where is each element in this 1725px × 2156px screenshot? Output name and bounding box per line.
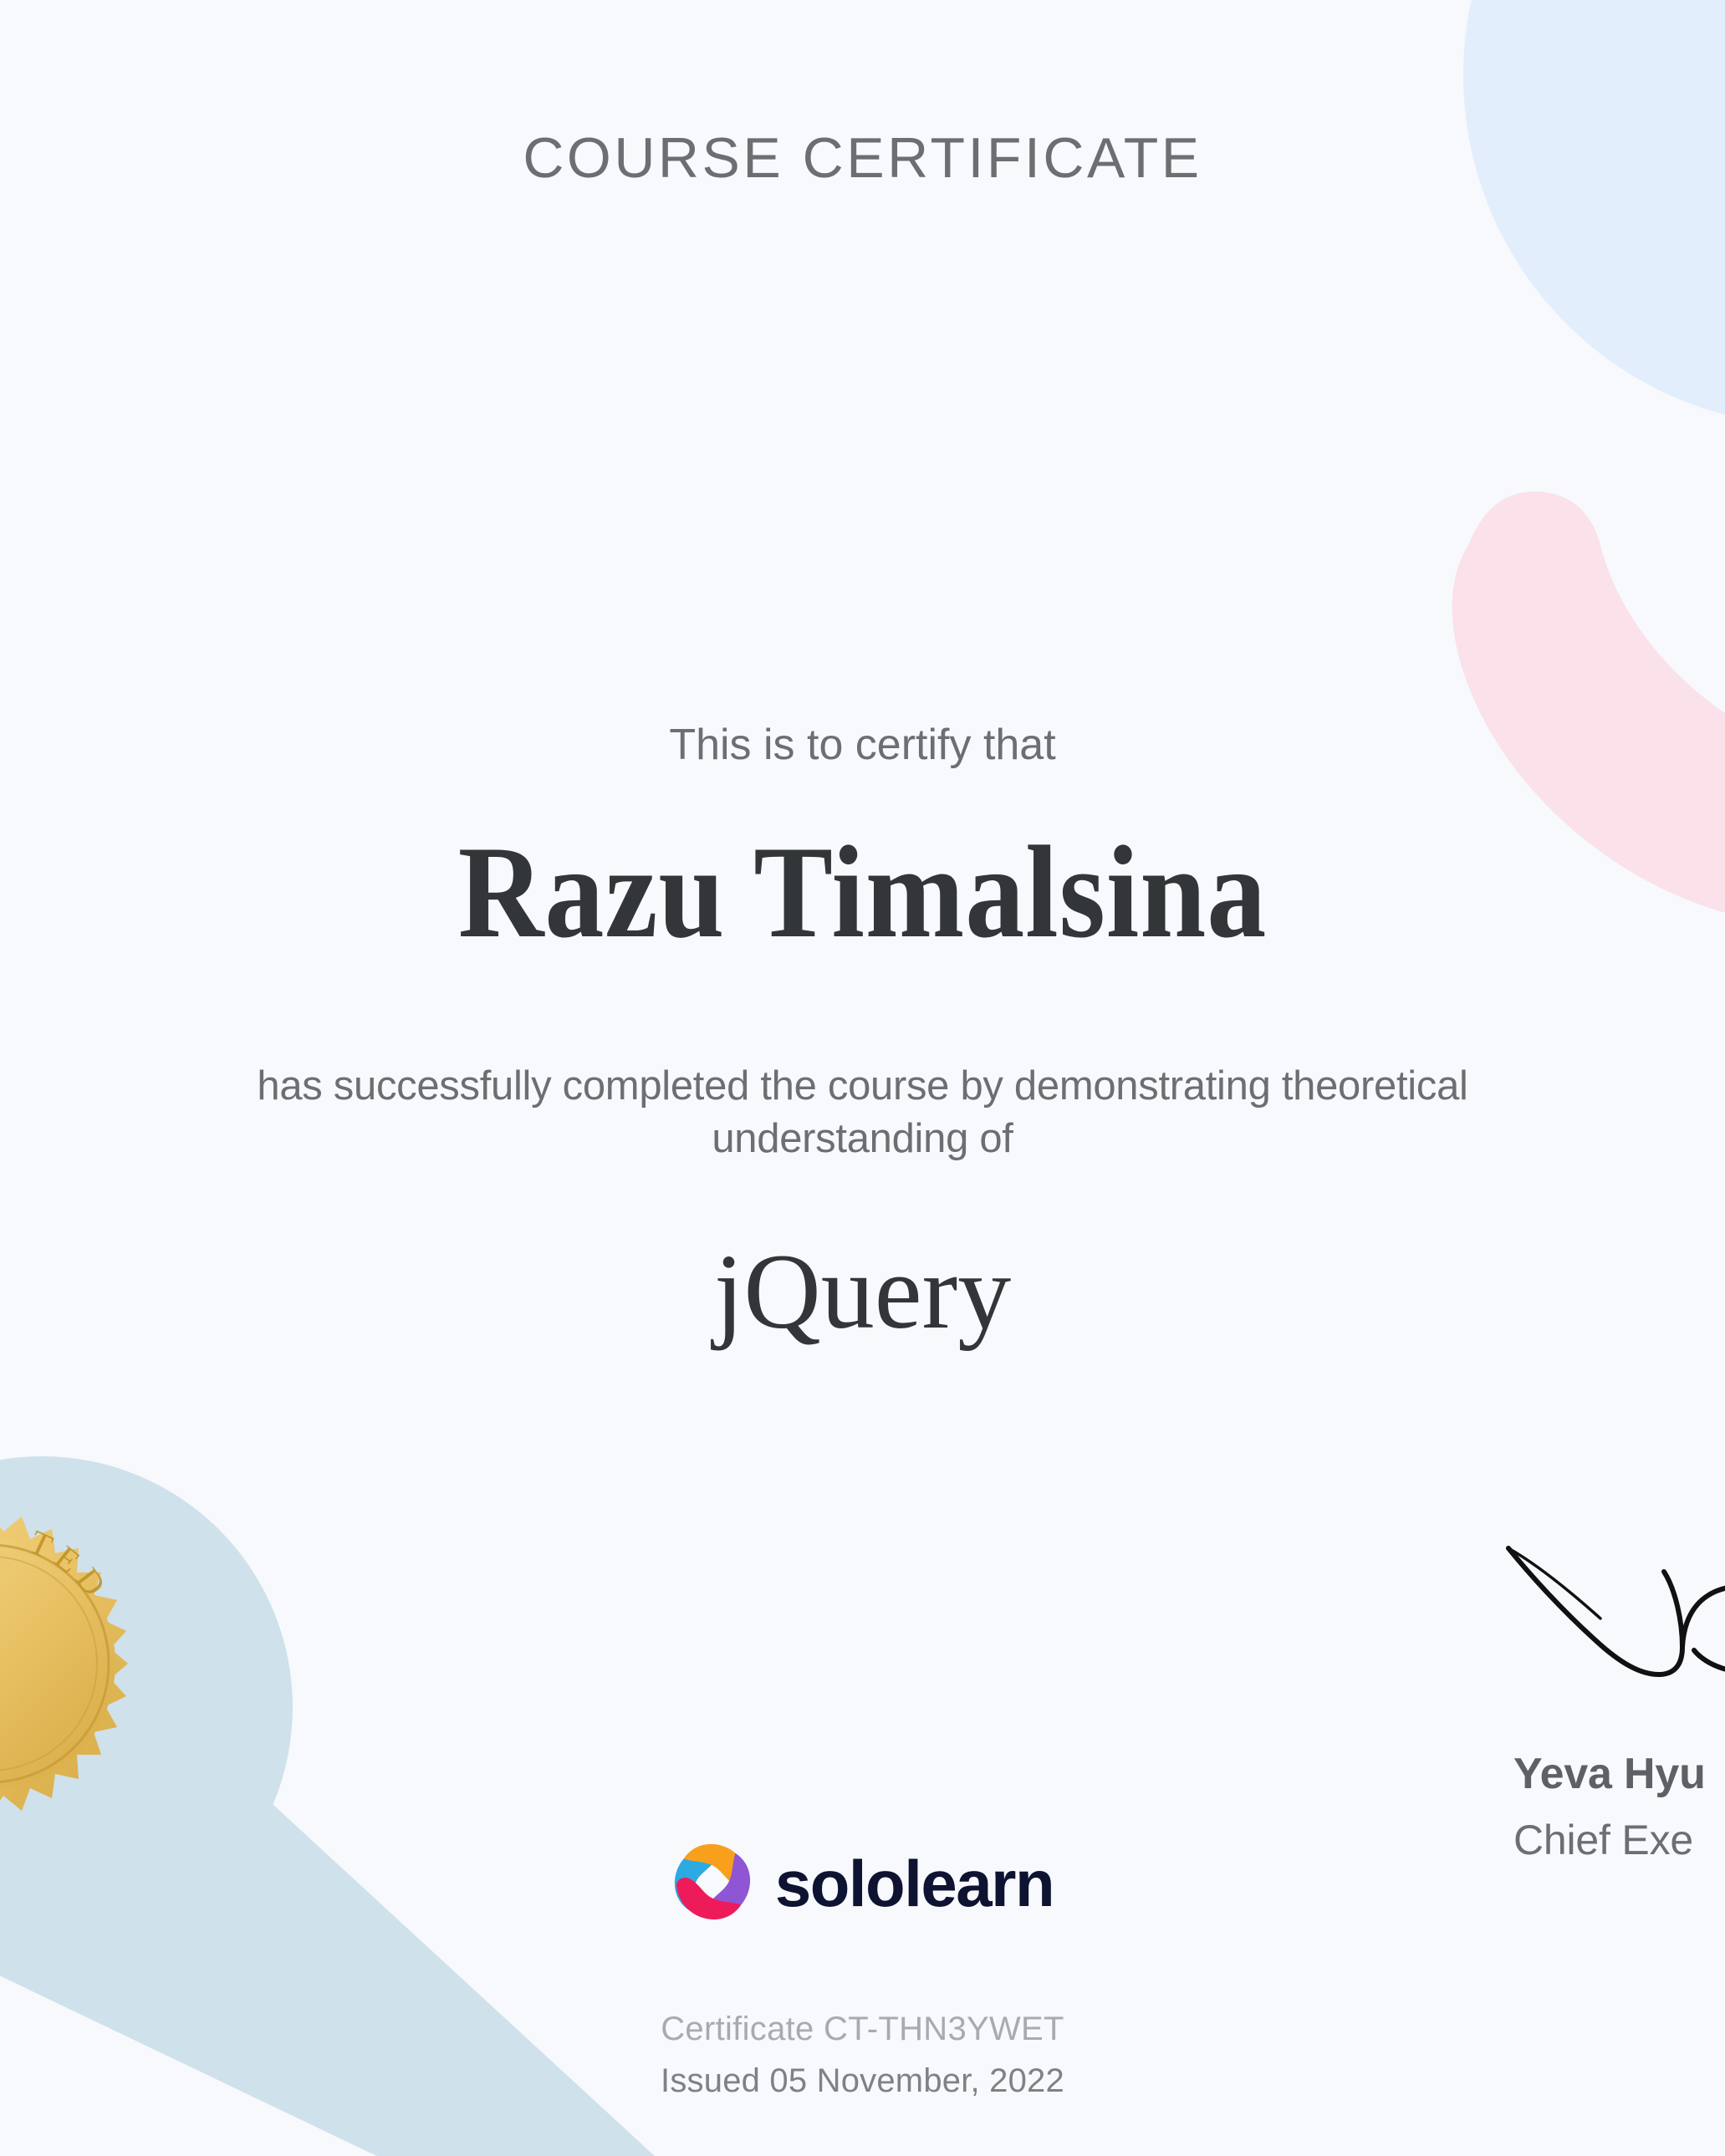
sololearn-pinwheel-icon — [671, 1841, 753, 1923]
page-title: COURSE CERTIFICATE — [0, 130, 1725, 186]
brand-wordmark: sololearn — [775, 1851, 1054, 1916]
signer-name: Yeva Hyu — [1513, 1749, 1706, 1799]
footer: Certificate CT-THN3YWET Issued 05 Novemb… — [0, 2003, 1725, 2107]
issue-date: Issued 05 November, 2022 — [0, 2055, 1725, 2107]
certificate-id: Certificate CT-THN3YWET — [0, 2003, 1725, 2055]
recipient-name: Razu Timalsina — [86, 813, 1639, 974]
handwritten-signature-icon — [1497, 1538, 1725, 1714]
course-name: jQuery — [0, 1222, 1725, 1361]
certify-line: This is to certify that — [0, 719, 1725, 771]
brand-logo: sololearn — [0, 1841, 1725, 1923]
course-certificate: TED COURSE CERTIFICATE This is to certif… — [0, 0, 1725, 2156]
achievement-text: has successfully completed the course by… — [161, 1060, 1565, 1165]
